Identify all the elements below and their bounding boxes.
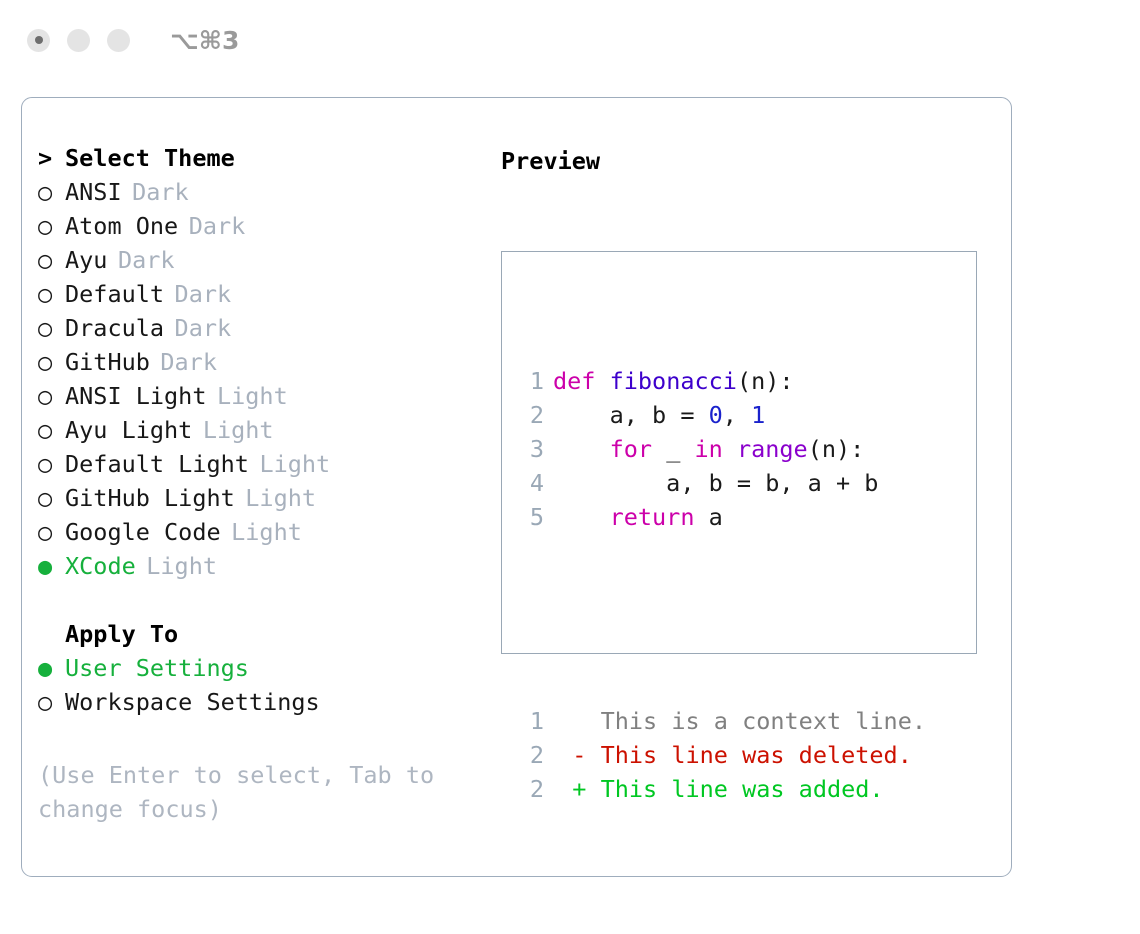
code-token-call: range xyxy=(737,435,808,463)
heading-indent xyxy=(38,623,65,647)
keyboard-shortcut-label: ⌥⌘3 xyxy=(170,26,239,55)
code-line: 5 return a xyxy=(518,500,926,534)
diff-line-text-ctx: This is a context line. xyxy=(544,707,926,735)
code-token-plain: a, b = xyxy=(553,401,709,429)
active-indicator-icon xyxy=(35,36,43,44)
theme-name-label: Ayu Light xyxy=(65,416,192,444)
line-number: 1 xyxy=(518,364,544,398)
theme-selection-pane: > Select Theme ○ANSIDark○Atom OneDark○Ay… xyxy=(38,144,490,722)
theme-variant-badge: Light xyxy=(217,382,288,410)
radio-selected-icon[interactable]: ● xyxy=(38,657,65,681)
code-token-num: 1 xyxy=(751,401,765,429)
code-token-plain xyxy=(723,435,737,463)
title-bar: ⌥⌘3 xyxy=(0,0,1140,80)
preview-box: 1def fibonacci(n):2 a, b = 0, 13 for _ i… xyxy=(501,251,977,654)
radio-unselected-icon[interactable]: ○ xyxy=(38,283,65,307)
window-content: > Select Theme ○ANSIDark○Atom OneDark○Ay… xyxy=(22,98,1011,876)
code-token-kw: in xyxy=(695,435,723,463)
apply-to-label: Apply To xyxy=(65,620,178,648)
section-spacer xyxy=(38,586,490,620)
radio-unselected-icon[interactable]: ○ xyxy=(38,317,65,341)
apply-to-label-text: Workspace Settings xyxy=(65,688,320,716)
theme-list-item[interactable]: ○DraculaDark xyxy=(38,314,490,348)
theme-variant-badge: Dark xyxy=(175,314,232,342)
theme-variant-badge: Dark xyxy=(175,280,232,308)
code-line: 1def fibonacci(n): xyxy=(518,364,926,398)
theme-name-label: Default xyxy=(65,280,164,308)
code-diff-spacer xyxy=(518,602,926,636)
code-token-plain xyxy=(595,367,609,395)
code-preview: 1def fibonacci(n):2 a, b = 0, 13 for _ i… xyxy=(518,296,926,874)
code-token-plain xyxy=(553,503,610,531)
radio-unselected-icon[interactable]: ○ xyxy=(38,215,65,239)
code-token-plain: (n): xyxy=(808,435,865,463)
theme-list-item[interactable]: ○GitHubDark xyxy=(38,348,490,382)
theme-name-label: Dracula xyxy=(65,314,164,342)
theme-list-item[interactable]: ○Atom OneDark xyxy=(38,212,490,246)
code-token-plain: a, b = b, a + b xyxy=(553,469,878,497)
theme-name-label: Default Light xyxy=(65,450,249,478)
theme-variant-badge: Dark xyxy=(132,178,189,206)
window-controls xyxy=(27,29,130,52)
radio-unselected-icon[interactable]: ○ xyxy=(38,453,65,477)
theme-list: ○ANSIDark○Atom OneDark○AyuDark○DefaultDa… xyxy=(38,178,490,586)
theme-picker-window: > Select Theme ○ANSIDark○Atom OneDark○Ay… xyxy=(21,97,1012,877)
code-token-plain: , xyxy=(723,401,751,429)
code-line: 4 a, b = b, a + b xyxy=(518,466,926,500)
theme-name-label: ANSI xyxy=(65,178,122,206)
theme-name-label: Ayu xyxy=(65,246,107,274)
apply-to-heading: Apply To xyxy=(38,620,490,654)
theme-name-label: GitHub xyxy=(65,348,150,376)
diff-line-number: 2 xyxy=(518,738,544,772)
apply-to-item[interactable]: ●User Settings xyxy=(38,654,490,688)
diff-line-number: 1 xyxy=(518,704,544,738)
theme-name-label: GitHub Light xyxy=(65,484,235,512)
radio-unselected-icon[interactable]: ○ xyxy=(38,691,65,715)
code-token-plain: (n): xyxy=(737,367,794,395)
code-line: 2 a, b = 0, 1 xyxy=(518,398,926,432)
theme-list-item[interactable]: ○DefaultDark xyxy=(38,280,490,314)
preview-pane: Preview 1def fibonacci(n):2 a, b = 0, 13… xyxy=(501,144,991,178)
radio-unselected-icon[interactable]: ○ xyxy=(38,419,65,443)
diff-line: 2 + This line was added. xyxy=(518,772,926,806)
code-token-kw: for xyxy=(610,435,652,463)
theme-variant-badge: Dark xyxy=(118,246,175,274)
radio-unselected-icon[interactable]: ○ xyxy=(38,351,65,375)
diff-line: 2 - This line was deleted. xyxy=(518,738,926,772)
theme-list-item[interactable]: ●XCodeLight xyxy=(38,552,490,586)
line-number: 2 xyxy=(518,398,544,432)
apply-to-item[interactable]: ○Workspace Settings xyxy=(38,688,490,722)
theme-list-item[interactable]: ○Ayu LightLight xyxy=(38,416,490,450)
code-token-fn: fibonacci xyxy=(610,367,737,395)
code-sample: 1def fibonacci(n):2 a, b = 0, 13 for _ i… xyxy=(518,364,926,534)
cursor-caret-icon: > xyxy=(38,147,65,171)
theme-variant-badge: Light xyxy=(146,552,217,580)
theme-variant-badge: Dark xyxy=(160,348,217,376)
code-token-kw: return xyxy=(610,503,695,531)
theme-name-label: Atom One xyxy=(65,212,178,240)
theme-variant-badge: Light xyxy=(245,484,316,512)
radio-unselected-icon[interactable]: ○ xyxy=(38,249,65,273)
code-token-plain: _ xyxy=(652,435,694,463)
radio-unselected-icon[interactable]: ○ xyxy=(38,521,65,545)
code-token-plain xyxy=(553,435,610,463)
minimize-dot-icon[interactable] xyxy=(67,29,90,52)
theme-variant-badge: Dark xyxy=(189,212,246,240)
select-theme-label: Select Theme xyxy=(65,144,235,172)
keyboard-hint-text: (Use Enter to select, Tab to change focu… xyxy=(38,758,468,826)
theme-name-label: ANSI Light xyxy=(65,382,206,410)
theme-variant-badge: Light xyxy=(231,518,302,546)
code-token-kw: def xyxy=(553,367,595,395)
theme-list-item[interactable]: ○Google CodeLight xyxy=(38,518,490,552)
code-line: 3 for _ in range(n): xyxy=(518,432,926,466)
select-theme-heading: > Select Theme xyxy=(38,144,490,178)
maximize-dot-icon[interactable] xyxy=(107,29,130,52)
theme-list-item[interactable]: ○GitHub LightLight xyxy=(38,484,490,518)
radio-unselected-icon[interactable]: ○ xyxy=(38,385,65,409)
radio-unselected-icon[interactable]: ○ xyxy=(38,487,65,511)
close-dot-icon[interactable] xyxy=(27,29,50,52)
theme-name-label: Google Code xyxy=(65,518,221,546)
apply-to-label-text: User Settings xyxy=(65,654,249,682)
radio-selected-icon[interactable]: ● xyxy=(38,555,65,579)
code-token-num: 0 xyxy=(709,401,723,429)
line-number: 5 xyxy=(518,500,544,534)
diff-line-number: 2 xyxy=(518,772,544,806)
theme-list-item[interactable]: ○Default LightLight xyxy=(38,450,490,484)
theme-name-label: XCode xyxy=(65,552,136,580)
apply-to-list: ●User Settings○Workspace Settings xyxy=(38,654,490,722)
diff-sample: 1 This is a context line.2 - This line w… xyxy=(518,704,926,806)
diff-line: 1 This is a context line. xyxy=(518,704,926,738)
radio-unselected-icon[interactable]: ○ xyxy=(38,181,65,205)
theme-list-item[interactable]: ○AyuDark xyxy=(38,246,490,280)
theme-variant-badge: Light xyxy=(259,450,330,478)
code-token-plain: a xyxy=(694,503,722,531)
preview-title: Preview xyxy=(501,144,991,178)
line-number: 3 xyxy=(518,432,544,466)
diff-line-text-add: + This line was added. xyxy=(544,775,884,803)
theme-list-item[interactable]: ○ANSIDark xyxy=(38,178,490,212)
theme-variant-badge: Light xyxy=(203,416,274,444)
line-number: 4 xyxy=(518,466,544,500)
theme-list-item[interactable]: ○ANSI LightLight xyxy=(38,382,490,416)
diff-line-text-del: - This line was deleted. xyxy=(544,741,912,769)
